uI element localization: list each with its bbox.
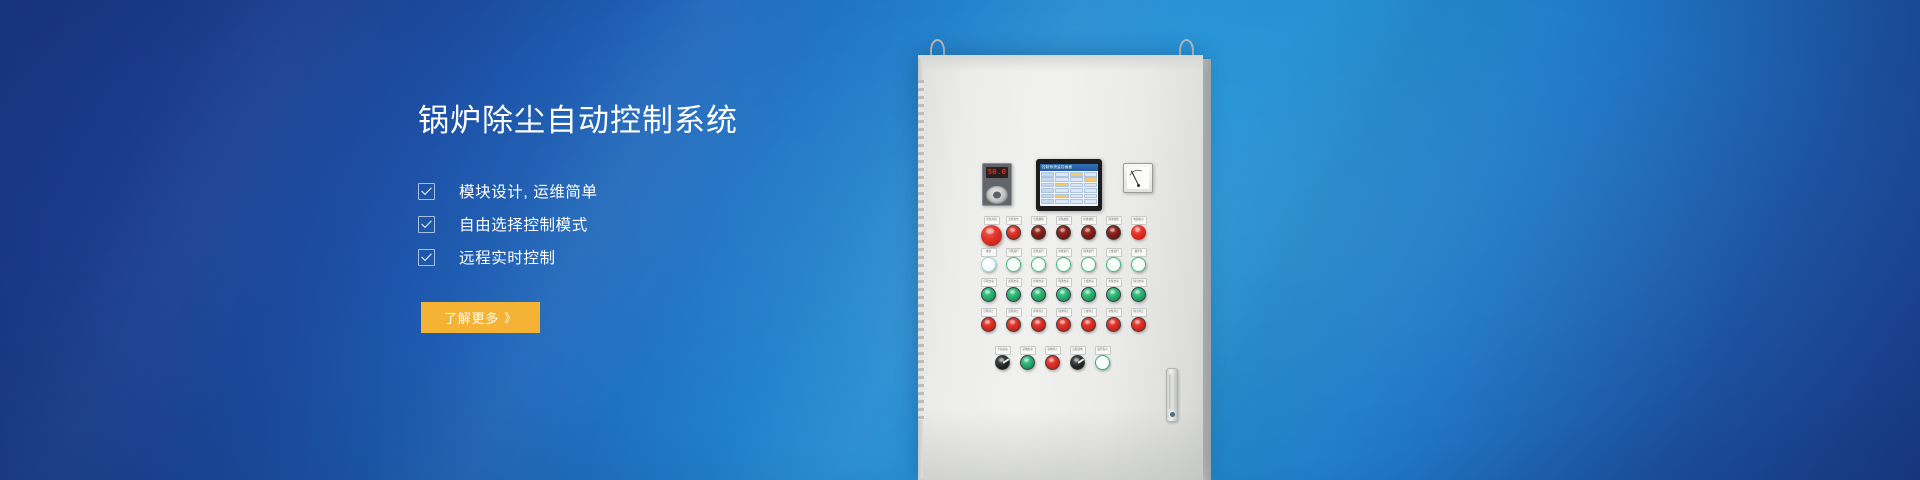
- hmi-cell: [1041, 194, 1054, 199]
- cabinet-door: 50.0 控制系统监控画面: [918, 55, 1203, 480]
- control-lamp-white-green[interactable]: [1006, 257, 1021, 272]
- hmi-cell: [1041, 177, 1054, 182]
- control-button-label: 电源指示: [1131, 216, 1147, 225]
- control-button-cell[interactable]: 电源指示: [1131, 225, 1146, 240]
- control-button-label: 炉排运行: [1056, 248, 1072, 257]
- control-lamp-red-btn[interactable]: [1006, 225, 1021, 240]
- hmi-cell: [1084, 194, 1097, 199]
- control-button-cell[interactable]: 引风运行: [1006, 257, 1021, 272]
- hmi-screen: 控制系统监控画面: [1040, 164, 1098, 206]
- control-lamp-red-btn[interactable]: [1106, 317, 1121, 332]
- control-button-cell[interactable]: 上煤停止: [1081, 317, 1096, 332]
- hmi-cell: [1084, 177, 1097, 182]
- feature-label: 模块设计, 运维简单: [459, 180, 598, 202]
- feature-label: 自由选择控制模式: [459, 213, 588, 235]
- control-button-cell[interactable]: 除渣停止: [1056, 317, 1071, 332]
- control-button-label: 除尘启动: [1131, 278, 1147, 287]
- table-row: [1041, 188, 1097, 193]
- control-button-label: 送风启动: [1006, 278, 1022, 287]
- cabinet-hinge-teeth: [918, 80, 924, 420]
- table-row: [1041, 183, 1097, 188]
- control-button-cell[interactable]: 上煤启动: [1081, 287, 1096, 302]
- control-button-label: 手动自动: [995, 346, 1011, 355]
- control-button-label: 引风运行: [1006, 248, 1022, 257]
- control-button-label: 送风停止: [1006, 308, 1022, 317]
- control-button-label: 炉排故障: [1081, 216, 1097, 225]
- control-button-label: 送风故障: [1056, 216, 1072, 225]
- control-lamp-selector[interactable]: [995, 355, 1010, 370]
- control-lamp-green[interactable]: [1031, 287, 1046, 302]
- variable-frequency-drive-keypad[interactable]: 50.0: [982, 163, 1012, 206]
- hmi-cell: [1084, 172, 1097, 177]
- control-button-cell[interactable]: 紧急停机: [981, 225, 1002, 246]
- hmi-title: 控制系统监控画面: [1042, 166, 1072, 170]
- hmi-title-bar: 控制系统监控画面: [1040, 164, 1098, 171]
- control-lamp-green[interactable]: [981, 287, 996, 302]
- cabinet-door-handle[interactable]: [1166, 368, 1178, 422]
- vfd-display: 50.0: [986, 167, 1008, 178]
- control-lamp-white-green[interactable]: [1106, 257, 1121, 272]
- control-button-cell[interactable]: 送风停止: [1006, 317, 1021, 332]
- learn-more-label: 了解更多: [444, 308, 499, 327]
- control-button-label: 引风停止: [981, 308, 997, 317]
- control-lamp-white-green[interactable]: [1031, 257, 1046, 272]
- control-button-label: 运行指示: [1095, 346, 1111, 355]
- control-button-label: 就地启动: [1020, 346, 1036, 355]
- hmi-cell: [1041, 183, 1054, 188]
- lifting-eye-left-icon: [930, 39, 945, 56]
- control-button-cell[interactable]: 就地停止: [1045, 355, 1060, 370]
- hmi-cell: [1041, 188, 1054, 193]
- control-button-label: 急停复位: [1006, 216, 1022, 225]
- control-button-cell[interactable]: 炉排启动: [1031, 287, 1046, 302]
- table-row: [1041, 194, 1097, 199]
- meter-face: [1127, 167, 1149, 189]
- hmi-cell: [1070, 199, 1083, 204]
- hmi-cell: [1041, 172, 1054, 177]
- cabinet-bottom-shading: [918, 410, 1203, 480]
- control-button-label: 引风启动: [981, 278, 997, 287]
- control-button-cell[interactable]: 送风故障: [1056, 225, 1071, 240]
- hmi-cell: [1055, 177, 1068, 182]
- control-lamp-green[interactable]: [1081, 287, 1096, 302]
- control-button-cell[interactable]: 水泵停止: [1106, 317, 1121, 332]
- control-lamp-estop[interactable]: [981, 225, 1002, 246]
- control-button-cell[interactable]: 急停复位: [1006, 225, 1021, 240]
- control-button-label: 水泵停止: [1106, 308, 1122, 317]
- control-lamp-green[interactable]: [1056, 287, 1071, 302]
- list-item: 远程实时控制: [418, 241, 878, 274]
- hmi-cell: [1084, 199, 1097, 204]
- control-button-label: 送风运行: [1031, 248, 1047, 257]
- control-lamp-white-green[interactable]: [1081, 257, 1096, 272]
- hmi-cell: [1055, 183, 1068, 188]
- control-button-cell[interactable]: 炉排运行: [1056, 257, 1071, 272]
- vfd-display-value: 50.0: [988, 169, 1007, 176]
- checkbox-checked-icon: [418, 183, 435, 200]
- control-button-cell[interactable]: 运行指示: [1095, 355, 1110, 370]
- hmi-cell: [1041, 199, 1054, 204]
- hero-banner: 锅炉除尘自动控制系统 模块设计, 运维简单 自由选择控制模式 远程实时控制: [0, 0, 1920, 480]
- control-lamp-red-dark[interactable]: [1106, 225, 1121, 240]
- meter-pivot: [1137, 184, 1140, 187]
- control-button-label: 炉排启动: [1031, 278, 1047, 287]
- checkbox-checked-icon: [418, 216, 435, 233]
- table-row: [1041, 199, 1097, 204]
- hmi-cell: [1055, 188, 1068, 193]
- control-lamp-red-btn[interactable]: [1045, 355, 1060, 370]
- cabinet-top-shading: [918, 55, 1203, 71]
- list-item: 模块设计, 运维简单: [418, 175, 878, 208]
- control-lamp-red-dark[interactable]: [1031, 225, 1046, 240]
- hmi-touch-panel[interactable]: 控制系统监控画面: [1036, 159, 1102, 211]
- control-button-label: 电源: [981, 248, 997, 257]
- control-lamp-white-cyan[interactable]: [981, 257, 996, 272]
- lifting-eye-right-icon: [1179, 39, 1194, 56]
- hmi-cell: [1070, 172, 1083, 177]
- control-lamp-red-btn[interactable]: [981, 317, 996, 332]
- control-button-cell[interactable]: 炉排故障: [1081, 225, 1096, 240]
- control-cabinet-image: 50.0 控制系统监控画面: [900, 0, 1300, 480]
- table-row: [1041, 177, 1097, 182]
- control-lamp-red-btn[interactable]: [1131, 317, 1146, 332]
- control-button-label: 水泵启动: [1106, 278, 1122, 287]
- hmi-cell: [1084, 183, 1097, 188]
- table-row: [1041, 172, 1097, 177]
- control-button-cell[interactable]: 水泵启动: [1106, 287, 1121, 302]
- banner-copy: 锅炉除尘自动控制系统 模块设计, 运维简单 自由选择控制模式 远程实时控制: [418, 102, 878, 333]
- control-lamp-green-btn[interactable]: [1020, 355, 1035, 370]
- control-button-cell[interactable]: 引风故障: [1031, 225, 1046, 240]
- control-button-label: 炉排停止: [1031, 308, 1047, 317]
- control-lamp-red-btn[interactable]: [1081, 317, 1096, 332]
- control-lamp-red-btn[interactable]: [1056, 317, 1071, 332]
- vfd-rotary-dial[interactable]: [986, 186, 1008, 204]
- control-lamp-selector[interactable]: [1070, 355, 1085, 370]
- control-lamp-red-dark[interactable]: [1081, 225, 1096, 240]
- control-button-label: 除尘停止: [1131, 308, 1147, 317]
- control-button-cell[interactable]: 电源: [981, 257, 996, 272]
- control-button-label: 就地停止: [1045, 346, 1061, 355]
- control-button-cell[interactable]: 除渣故障: [1106, 225, 1121, 240]
- feature-list: 模块设计, 运维简单 自由选择控制模式 远程实时控制: [418, 175, 878, 274]
- control-lamp-white-green[interactable]: [1056, 257, 1071, 272]
- control-lamp-green[interactable]: [1106, 287, 1121, 302]
- control-button-cell[interactable]: 手动自动: [995, 355, 1010, 370]
- hmi-cell: [1055, 172, 1068, 177]
- analog-panel-meter: [1123, 163, 1153, 193]
- control-button-label: 远程就地: [1070, 346, 1086, 355]
- control-button-cell[interactable]: 远程就地: [1070, 355, 1085, 370]
- control-lamp-green[interactable]: [1131, 287, 1146, 302]
- control-button-label: 除渣启动: [1056, 278, 1072, 287]
- control-button-label: 上煤停止: [1081, 308, 1097, 317]
- control-button-cell[interactable]: 引风停止: [981, 317, 996, 332]
- control-button-cell[interactable]: 除尘停止: [1131, 317, 1146, 332]
- control-button-label: 上煤启动: [1081, 278, 1097, 287]
- checkbox-checked-icon: [418, 249, 435, 266]
- control-lamp-red-btn[interactable]: [1006, 317, 1021, 332]
- control-button-cell[interactable]: 就地启动: [1020, 355, 1035, 370]
- control-button-cell[interactable]: 送风运行: [1031, 257, 1046, 272]
- page-title: 锅炉除尘自动控制系统: [418, 102, 878, 141]
- control-button-cell[interactable]: 除尘启动: [1131, 287, 1146, 302]
- chevron-right-icon: 》: [504, 309, 517, 326]
- hmi-cell: [1070, 188, 1083, 193]
- hmi-cell: [1070, 183, 1083, 188]
- control-lamp-red-bright[interactable]: [1131, 225, 1146, 240]
- feature-label: 远程实时控制: [459, 246, 556, 268]
- list-item: 自由选择控制模式: [418, 208, 878, 241]
- control-button-cell[interactable]: 除渣运行: [1081, 257, 1096, 272]
- hmi-cell: [1084, 188, 1097, 193]
- handle-grip: [1169, 374, 1176, 410]
- learn-more-button[interactable]: 了解更多 》: [421, 302, 540, 333]
- control-lamp-red-btn[interactable]: [1031, 317, 1046, 332]
- control-lamp-red-dark[interactable]: [1056, 225, 1071, 240]
- hmi-cell: [1070, 177, 1083, 182]
- control-lamp-white-green[interactable]: [1131, 257, 1146, 272]
- hmi-cell: [1070, 194, 1083, 199]
- control-lamp-white-ring[interactable]: [1095, 355, 1110, 370]
- control-button-label: 紧急停机: [984, 216, 1000, 225]
- control-button-cell[interactable]: 炉排停止: [1031, 317, 1046, 332]
- control-button-label: 上煤运行: [1106, 248, 1122, 257]
- handle-lock-icon: [1170, 412, 1175, 417]
- hmi-cell: [1055, 194, 1068, 199]
- cabinet-side-panel: [1203, 59, 1211, 480]
- control-button-cell[interactable]: 除渣启动: [1056, 287, 1071, 302]
- control-button-cell[interactable]: 循环泵: [1131, 257, 1146, 272]
- hmi-data-grid: [1040, 171, 1098, 206]
- hmi-cell: [1055, 199, 1068, 204]
- control-lamp-green[interactable]: [1006, 287, 1021, 302]
- control-button-cell[interactable]: 上煤运行: [1106, 257, 1121, 272]
- control-button-label: 除渣停止: [1056, 308, 1072, 317]
- control-button-label: 除渣运行: [1081, 248, 1097, 257]
- control-button-label: 引风故障: [1031, 216, 1047, 225]
- control-button-cell[interactable]: 送风启动: [1006, 287, 1021, 302]
- control-button-label: 循环泵: [1131, 248, 1147, 257]
- control-button-label: 除渣故障: [1106, 216, 1122, 225]
- control-button-cell[interactable]: 引风启动: [981, 287, 996, 302]
